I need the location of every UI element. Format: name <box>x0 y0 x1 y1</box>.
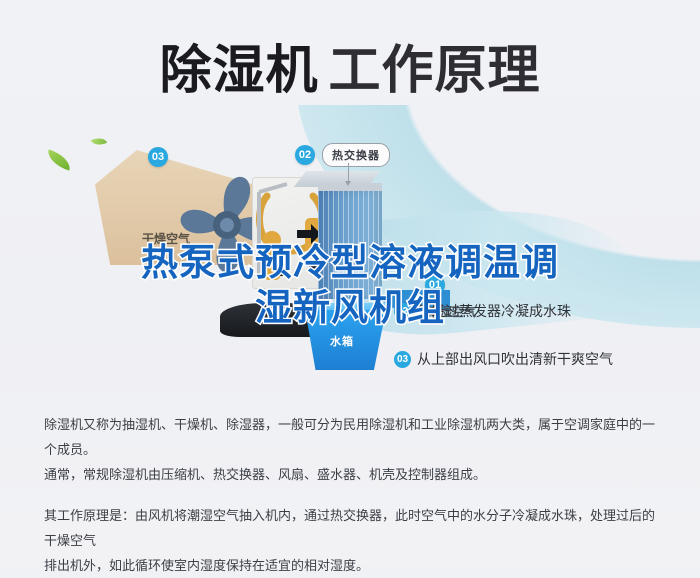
bullet-text: 从上部出风口吹出清新干爽空气 <box>417 349 613 369</box>
bullet-number: 02 <box>394 303 411 320</box>
title-part-two: 工作原理 <box>329 42 541 100</box>
paragraph-1-line-1: 除湿机又称为抽湿机、干燥机、除湿器，一般可分为民用除湿机和工业除湿机两大类，属于… <box>44 412 664 462</box>
paragraph-2-line-1: 其工作原理是：由风机将潮湿空气抽入机内，通过热交换器，此时空气中的水分子冷凝成水… <box>44 503 664 553</box>
bullet-item: 03 从上部出风口吹出清新干爽空气 <box>394 349 613 369</box>
dehumidifier-diagram: 水箱 01 02 03 热交换器 干燥空气 潮湿空气 02 气经过蒸发器冷凝成水… <box>0 105 700 395</box>
description-text: 除湿机又称为抽湿机、干燥机、除湿器，一般可分为民用除湿机和工业除湿机两大类，属于… <box>44 412 664 578</box>
infographic-page: 除湿机工作原理 <box>0 0 700 566</box>
page-title: 除湿机工作原理 <box>0 28 700 103</box>
bullet-item: 02 气经过蒸发器冷凝成水珠 <box>394 301 571 321</box>
title-part-one: 除湿机 <box>159 42 318 100</box>
bullet-number: 03 <box>394 351 411 368</box>
paragraph-spacer <box>44 487 664 503</box>
process-bullets: 02 气经过蒸发器冷凝成水珠 03 从上部出风口吹出清新干爽空气 <box>0 105 700 395</box>
paragraph-1-line-2: 通常，常规除湿机由压缩机、热交换器、风扇、盛水器、机壳及控制器组成。 <box>44 462 664 487</box>
bullet-text: 气经过蒸发器冷凝成水珠 <box>417 301 571 321</box>
